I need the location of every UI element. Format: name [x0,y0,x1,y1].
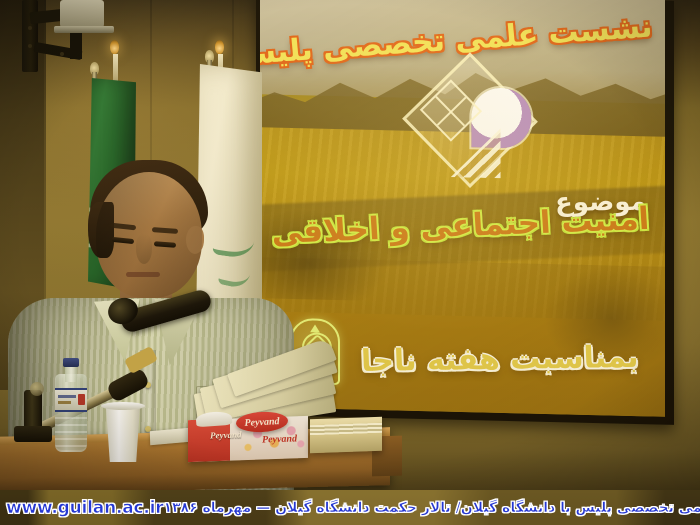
sconce-flame-icon [215,40,224,54]
projector-mount-lip [54,26,114,33]
bottle-label-accent [78,394,85,405]
mount-screw-3 [60,52,64,56]
tissue-box-brand-side: Peyvand [262,433,297,445]
bottle-label-line-1 [58,395,76,398]
desk-lamp-knob [30,382,44,396]
water-bottle-ribs [55,410,87,450]
bottle-label-line-2 [58,401,71,404]
caption-bar: www.guilan.ac.ir / تالار حکمت دانشگاه گی… [0,490,700,525]
caption-venue: تالار حکمت دانشگاه گیلان [275,500,451,516]
caption-dash: — [256,500,270,516]
water-bottle-cap [63,358,79,367]
emblem-crown [310,324,320,332]
foam-cup-rim [101,402,145,410]
speaker-face-shading [96,172,202,298]
conference-photo: نشست علمی تخصصی پلیس با دانشگاه موضوع ام… [0,0,700,525]
sconce-flame-icon [110,40,119,54]
tissue-box-brand-front: Peyvand [210,429,242,440]
desk-lamp-foot [14,426,52,442]
caption-date: مهرماه ۱۳۸۶ [163,500,251,516]
logo-globe-puzzle-icon [471,88,531,149]
desk-lamp-base [14,378,52,442]
mount-screw-1 [28,26,32,30]
slide-occasion-text: بمناسبت هفته ناجا [361,340,640,379]
caption-url[interactable]: www.guilan.ac.ir [6,498,163,518]
water-bottle [55,358,87,452]
projector-mount-post [70,33,82,59]
desk-lamp-column [24,390,42,430]
tissue-box-brand-badge-label: Peyvand [244,416,280,429]
mount-screw-2 [28,44,32,48]
caption-venue-date: / تالار حکمت دانشگاه گیلان — مهرماه ۱۳۸۶ [163,500,460,516]
caption-event: نشست علمی تخصصی پلیس با دانشگاه گیلان [461,500,700,516]
water-bottle-label [55,388,87,412]
